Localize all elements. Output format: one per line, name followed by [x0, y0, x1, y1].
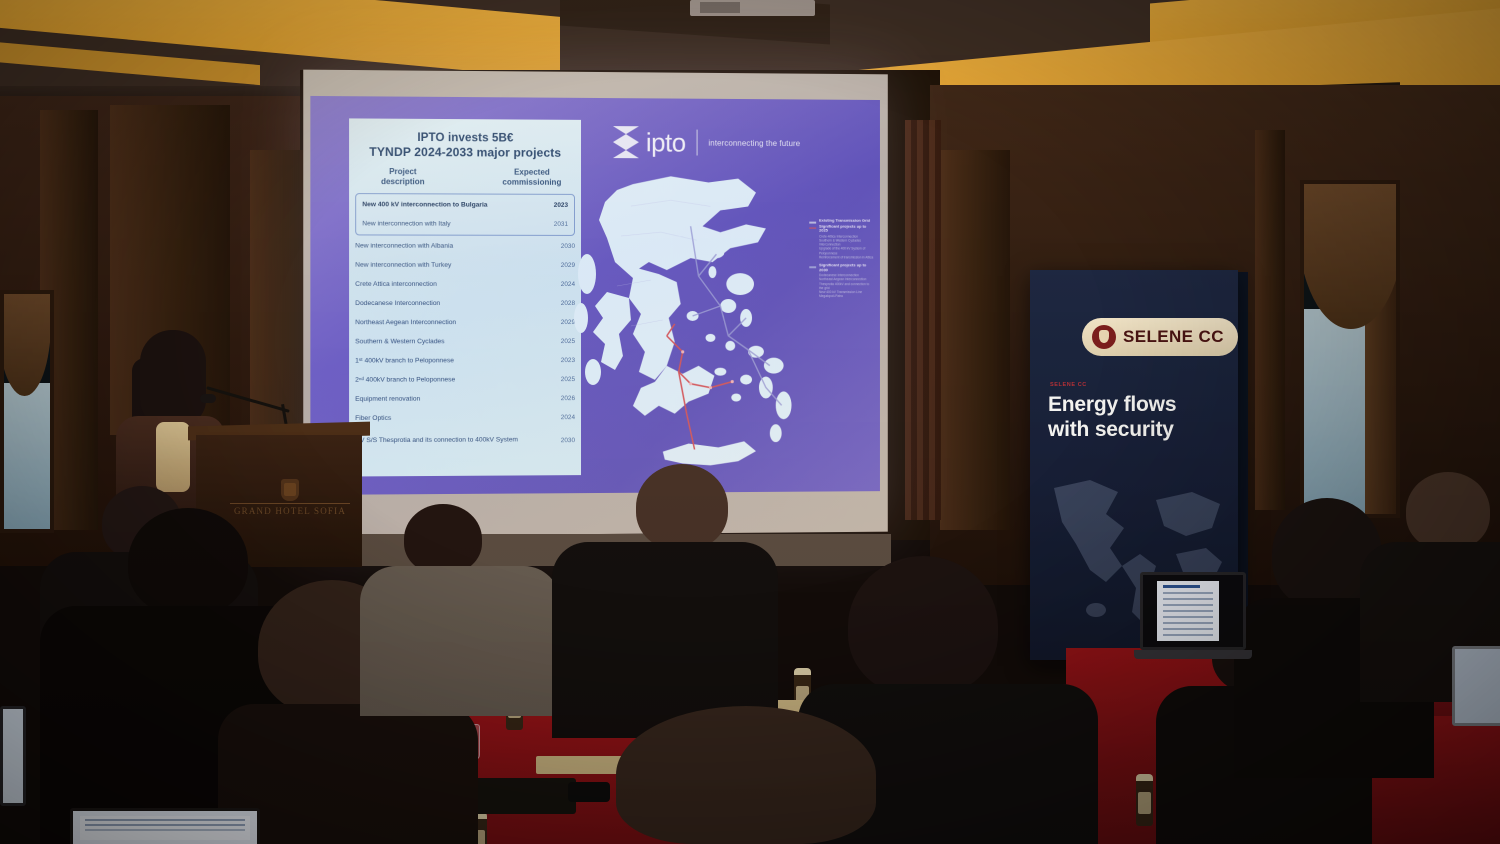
conference-room-photo: IPTO invests 5B€ TYNDP 2024-2033 major p… — [0, 0, 1500, 844]
legend-item: Significant projects up to 2030 — [809, 263, 874, 272]
row-description: HV S/S Thesprotia and its connection to … — [355, 436, 551, 445]
laptop[interactable] — [70, 808, 260, 844]
head — [128, 508, 248, 616]
table-row: HV S/S Thesprotia and its connection to … — [349, 427, 581, 454]
banner-headline: Energy flows with security — [1048, 392, 1228, 442]
row-description: New interconnection with Albania — [355, 241, 551, 250]
laptop-screen — [70, 808, 260, 844]
row-description: 2ⁿᵈ 400kV branch to Peloponnese — [355, 375, 551, 385]
laptop[interactable] — [0, 706, 26, 806]
wood-panel — [940, 150, 1010, 530]
slide-title-line1: IPTO invests 5B€ — [355, 131, 575, 146]
legend-sub: Reinforcement of transmission in Attica — [819, 255, 874, 259]
hotel-crest-icon — [281, 479, 299, 501]
table-row: New interconnection with Italy 2031 — [356, 214, 574, 234]
laptop-base — [1134, 650, 1253, 659]
slide-table-panel: IPTO invests 5B€ TYNDP 2024-2033 major p… — [349, 118, 581, 476]
microphone-icon — [200, 394, 216, 403]
head — [1406, 472, 1490, 550]
table-row: 2ⁿᵈ 400kV branch to Peloponnese 2025 — [349, 370, 581, 390]
laptop-screen — [0, 706, 26, 806]
selene-mark-icon — [1092, 325, 1116, 349]
head — [848, 556, 998, 696]
row-description: Fiber Optics — [355, 413, 551, 423]
row-description: Equipment renovation — [355, 394, 551, 404]
highlighted-rows-box: New 400 kV interconnection to Bulgaria 2… — [355, 193, 575, 236]
legend-label: Significant projects up to 2030 — [819, 263, 874, 272]
ipto-tagline: interconnecting the future — [708, 138, 800, 147]
laptop[interactable] — [1140, 572, 1246, 650]
legend-swatch-icon — [809, 227, 816, 229]
row-description: Northeast Aegean Interconnection — [355, 318, 551, 327]
ceiling-light-fixture — [700, 2, 740, 13]
window-right — [1300, 180, 1400, 518]
document-on-screen — [80, 816, 249, 840]
laptop-screen — [1140, 572, 1246, 650]
slide-title-line2: TYNDP 2024-2033 major projects — [355, 145, 575, 160]
row-description: Crete Attica interconnection — [355, 280, 551, 289]
selene-wordmark: SELENE CC — [1123, 327, 1224, 347]
table-row: Fiber Optics 2024 — [349, 408, 581, 428]
banner-headline-line1: Energy flows — [1048, 392, 1228, 417]
table-row: Dodecanese Interconnection 2028 — [349, 294, 581, 313]
row-year: 2023 — [544, 202, 568, 209]
map-legend: Existing Transmission Grid Significant p… — [809, 219, 874, 299]
document-on-screen — [1157, 581, 1219, 641]
greece-map-svg — [571, 166, 819, 486]
selene-logo: SELENE CC — [1082, 318, 1238, 356]
ipto-wordmark: ipto — [646, 129, 686, 155]
row-year: 2031 — [544, 221, 568, 228]
presenter-hair — [140, 330, 206, 426]
table-row: Southern & Western Cyclades 2025 — [349, 332, 581, 351]
ipto-mark-icon — [613, 126, 639, 158]
greece-map — [571, 166, 819, 486]
row-description: New interconnection with Turkey — [355, 261, 551, 270]
table-row: New 400 kV interconnection to Bulgaria 2… — [356, 195, 574, 215]
table-row: 1ˢᵗ 400kV branch to Peloponnese 2023 — [349, 351, 581, 371]
table-row: New interconnection with Turkey 2029 — [349, 256, 581, 275]
legend-sub: Southern & Western Cyclades Interconnect… — [819, 238, 874, 246]
table-row: Equipment renovation 2026 — [349, 389, 581, 409]
head — [636, 464, 728, 550]
head — [404, 504, 482, 574]
water-bottle — [1136, 774, 1153, 826]
presenter-shirt — [156, 422, 190, 492]
row-description: 1ˢᵗ 400kV branch to Peloponnese — [355, 356, 551, 365]
logo-divider — [696, 130, 697, 156]
legend-swatch-icon — [809, 266, 816, 268]
table-row: Crete Attica interconnection 2024 — [349, 275, 581, 294]
legend-swatch-icon — [809, 222, 816, 224]
legend-sub: Upgrade of the 400 kV System of Peloponn… — [819, 247, 874, 255]
table-header: Project description Expected commissioni… — [349, 161, 581, 192]
window-left — [0, 290, 54, 533]
sign-rule — [230, 503, 350, 504]
projection-screen: IPTO invests 5B€ TYNDP 2024-2033 major p… — [303, 70, 888, 537]
body — [360, 566, 560, 716]
podium-sign-text: GRAND HOTEL SOFIA — [226, 506, 354, 516]
banner-kicker: SELENE CC — [1050, 382, 1087, 388]
phone — [568, 782, 610, 802]
column-header-commissioning: Expected commissioning — [493, 168, 571, 188]
table-row: New interconnection with Albania 2030 — [349, 236, 581, 256]
row-description: New interconnection with Italy — [362, 219, 544, 229]
row-description: New 400 kV interconnection to Bulgaria — [362, 200, 544, 210]
head — [616, 706, 876, 844]
row-description: Southern & Western Cyclades — [355, 337, 551, 346]
sheer-curtain — [4, 383, 50, 529]
ipto-logo: ipto interconnecting the future — [613, 126, 800, 159]
slide-title: IPTO invests 5B€ TYNDP 2024-2033 major p… — [349, 118, 581, 162]
column-header-description: Project description — [359, 167, 446, 188]
table-row: Northeast Aegean Interconnection 2029 — [349, 313, 581, 332]
podium-sign: GRAND HOTEL SOFIA — [226, 479, 354, 521]
presentation-slide: IPTO invests 5B€ TYNDP 2024-2033 major p… — [310, 96, 880, 495]
row-description: Dodecanese Interconnection — [355, 299, 551, 308]
curtain-valance — [0, 290, 51, 396]
legend-sub: Thesprotia 400kV and connection to the g… — [819, 282, 874, 290]
legend-sub: New 400 kV Transmission Line Megalopoli-… — [819, 290, 874, 298]
wood-panel — [1255, 130, 1285, 510]
legend-label: Significant projects up to 2025 — [819, 224, 874, 233]
legend-item: Significant projects up to 2025 — [809, 224, 874, 233]
laptop-screen — [1452, 646, 1500, 726]
laptop[interactable] — [1452, 646, 1500, 726]
banner-headline-line2: with security — [1048, 417, 1228, 442]
stage-curtain — [905, 120, 941, 520]
